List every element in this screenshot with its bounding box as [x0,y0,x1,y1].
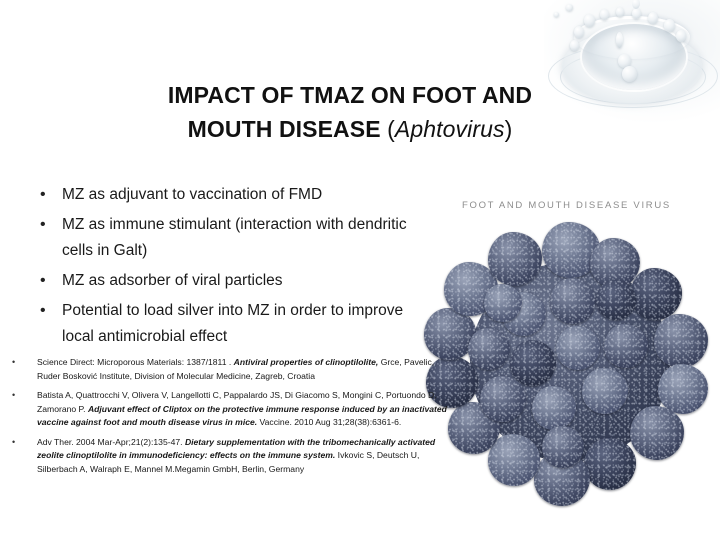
capsid-surface-unit [556,326,600,370]
capsid-surface-unit [510,340,556,386]
capsid-surface-unit [550,278,596,324]
capsid-protrusion [630,268,682,320]
capsid-protrusion [584,438,636,490]
main-bullet-list: • MZ as adjuvant to vaccination of FMD •… [36,182,436,354]
capsid-protrusion [630,406,684,460]
capsid-surface-unit [532,386,576,430]
title-paren-open: ( [387,116,395,142]
bullet-item: • MZ as adsorber of viral particles [36,268,436,294]
reference-part-2: Vaccine. 2010 Aug 31;28(38):6361-6. [257,417,401,427]
crown-bead [648,12,658,24]
title-genus-italic: Aphtovirus [395,116,505,142]
reference-part-1: Science Direct: Microporous Materials: 1… [37,357,234,367]
crown-bead [616,7,624,17]
capsid-surface-unit [468,328,510,370]
capsid-protrusion [488,434,540,486]
crown-bead [600,9,609,20]
virus-capsid-image [424,216,716,510]
bullet-marker-icon: • [36,298,62,324]
bullet-marker-icon: • [36,182,62,208]
crown-bead [632,8,641,19]
satellite-droplet [566,4,573,11]
crown-bead [574,26,584,38]
capsid-surface-unit [582,368,628,414]
crown-bead [584,14,595,27]
rebound-jet [616,32,623,48]
title-paren-close: ) [505,116,513,142]
capsid-surface-unit [596,280,636,320]
capsid-protrusion [488,232,542,286]
reference-marker-icon: • [8,389,37,403]
reference-item: • Science Direct: Microporous Materials:… [8,356,448,383]
capsid-surface-unit [604,324,648,368]
capsid-surface-unit [484,284,522,322]
satellite-droplet [554,12,559,17]
reference-list: • Science Direct: Microporous Materials:… [8,356,448,482]
reference-part-1: Adv Ther. 2004 Mar-Apr;21(2):135-47. [37,437,185,447]
capsid-protrusion [658,364,708,414]
crown-bead [570,40,579,51]
bullet-item: • MZ as adjuvant to vaccination of FMD [36,182,436,208]
title-line-1: IMPACT OF TMAZ ON FOOT AND [60,78,640,112]
reference-marker-icon: • [8,436,37,450]
reference-text: Adv Ther. 2004 Mar-Apr;21(2):135-47. Die… [37,436,448,477]
figure-caption: FOOT AND MOUTH DISEASE VIRUS [462,200,671,211]
capsid-surface-unit [542,426,584,468]
reference-item: • Batista A, Quattrocchi V, Olivera V, L… [8,389,448,430]
reference-text: Science Direct: Microporous Materials: 1… [37,356,448,383]
reference-item: • Adv Ther. 2004 Mar-Apr;21(2):135-47. D… [8,436,448,477]
bullet-marker-icon: • [36,212,62,238]
bullet-item-label: MZ as adsorber of viral particles [62,268,436,294]
bullet-item-label: MZ as adjuvant to vaccination of FMD [62,182,436,208]
title-line-2-main: MOUTH DISEASE [188,116,387,142]
bullet-item-label: MZ as immune stimulant (interaction with… [62,212,436,264]
capsid-surface-unit [480,376,526,422]
reference-marker-icon: • [8,356,37,370]
capsid-protrusion [654,314,708,368]
bullet-marker-icon: • [36,268,62,294]
bullet-item: • Potential to load silver into MZ in or… [36,298,436,350]
crown-bead [664,19,675,32]
title-line-2: MOUTH DISEASE (Aphtovirus) [60,112,640,146]
reference-emphasis: Antiviral properties of clinoptilolite, [234,357,379,367]
crown-bead [676,30,686,42]
bullet-item: • MZ as immune stimulant (interaction wi… [36,212,436,264]
slide-title: IMPACT OF TMAZ ON FOOT AND MOUTH DISEASE… [60,78,640,146]
bullet-item-label: Potential to load silver into MZ in orde… [62,298,436,350]
reference-text: Batista A, Quattrocchi V, Olivera V, Lan… [37,389,448,430]
presentation-slide: IMPACT OF TMAZ ON FOOT AND MOUTH DISEASE… [0,0,720,540]
